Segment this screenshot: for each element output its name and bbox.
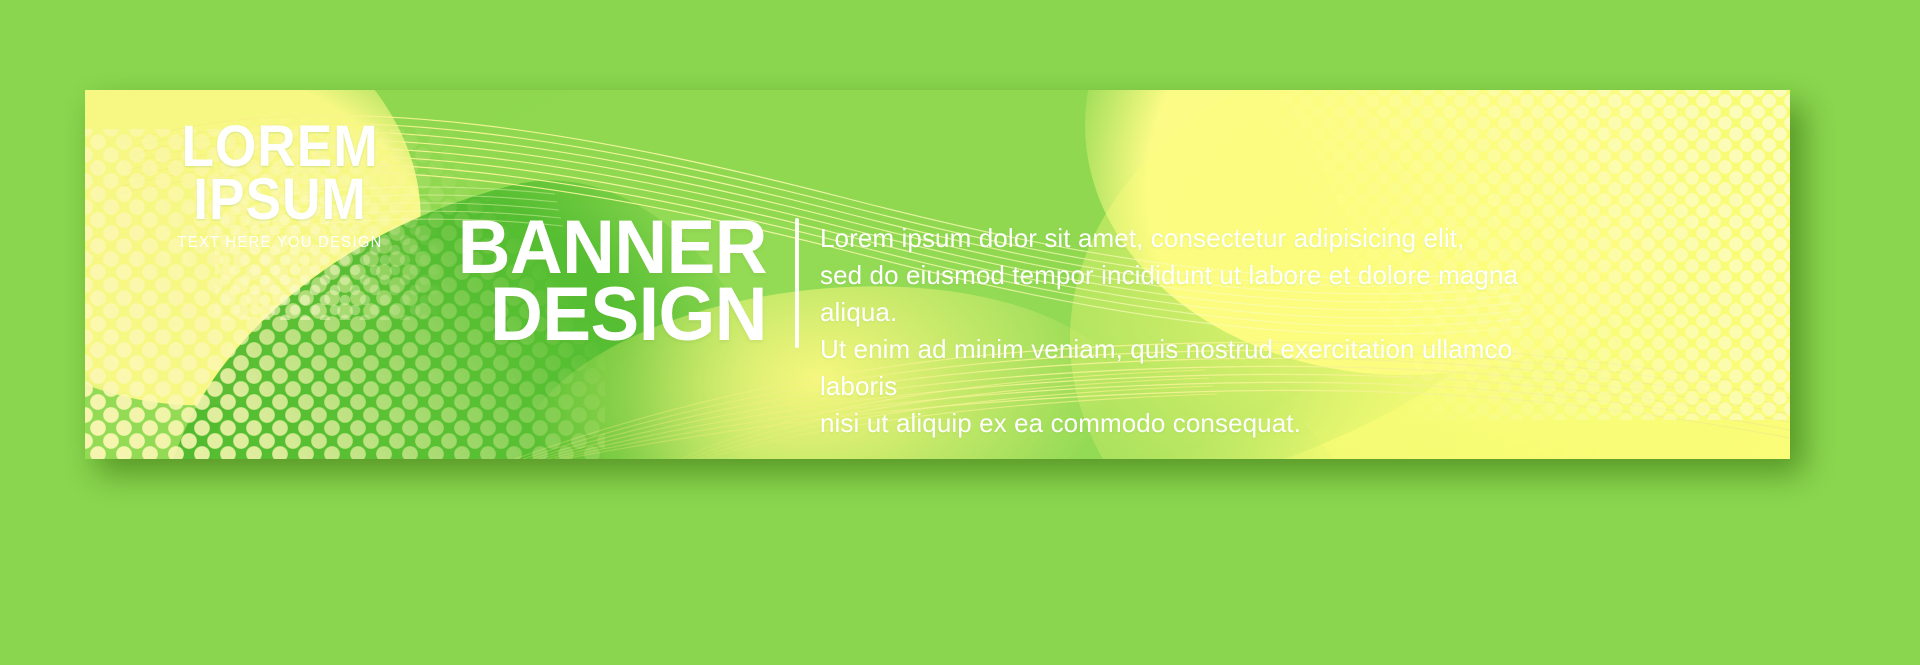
vertical-divider	[795, 218, 799, 348]
banner-stage: LOREM IPSUM TEXT HERE YOU DESIGN BANNER …	[0, 0, 1920, 665]
body-line-1: Lorem ipsum dolor sit amet, consectetur …	[820, 220, 1560, 257]
logo-line-1: LOREM	[133, 120, 427, 173]
body-paragraph: Lorem ipsum dolor sit amet, consectetur …	[820, 220, 1560, 441]
headline-block: BANNER DESIGN	[375, 215, 775, 349]
body-line-4: nisi ut aliquip ex ea commodo consequat.	[820, 405, 1560, 442]
body-line-3: Ut enim ad minim veniam, quis nostrud ex…	[820, 331, 1560, 405]
body-line-2: sed do eiusmod tempor incididunt ut labo…	[820, 257, 1560, 331]
banner-card: LOREM IPSUM TEXT HERE YOU DESIGN BANNER …	[85, 90, 1790, 459]
headline-line-2: DESIGN	[383, 282, 767, 349]
